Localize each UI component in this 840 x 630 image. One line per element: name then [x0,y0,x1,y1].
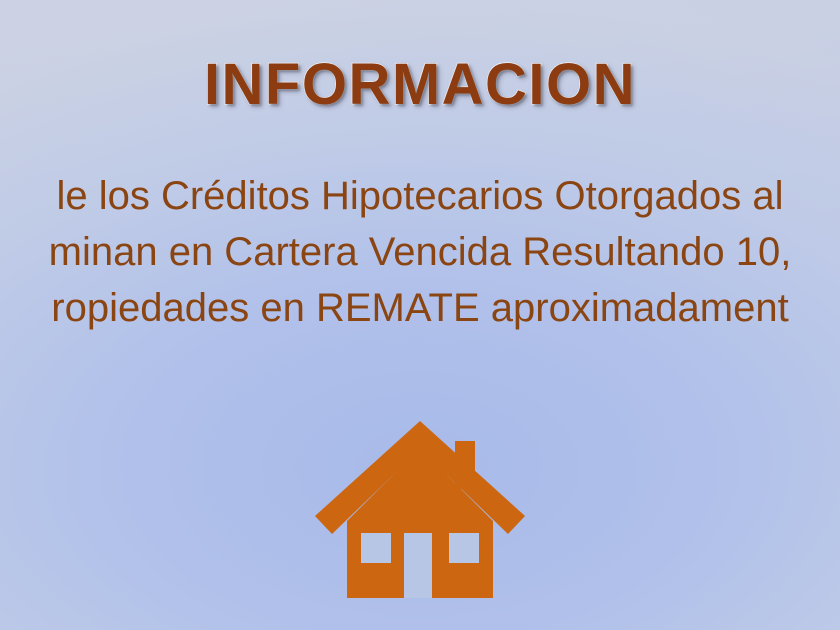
slide-title-container: INFORMACION [0,56,840,114]
slide-body-text: le los Créditos Hipotecarios Otorgados a… [0,168,840,336]
slide-canvas: INFORMACION le los Créditos Hipotecarios… [0,0,840,630]
body-line-3: ropiedades en REMATE aproximadament [0,280,840,336]
page-title: INFORMACION [204,56,636,114]
house-icon [315,415,525,605]
body-line-1: le los Créditos Hipotecarios Otorgados a… [0,168,840,224]
body-line-2: minan en Cartera Vencida Resultando 10, [0,224,840,280]
house-illustration [315,415,525,605]
